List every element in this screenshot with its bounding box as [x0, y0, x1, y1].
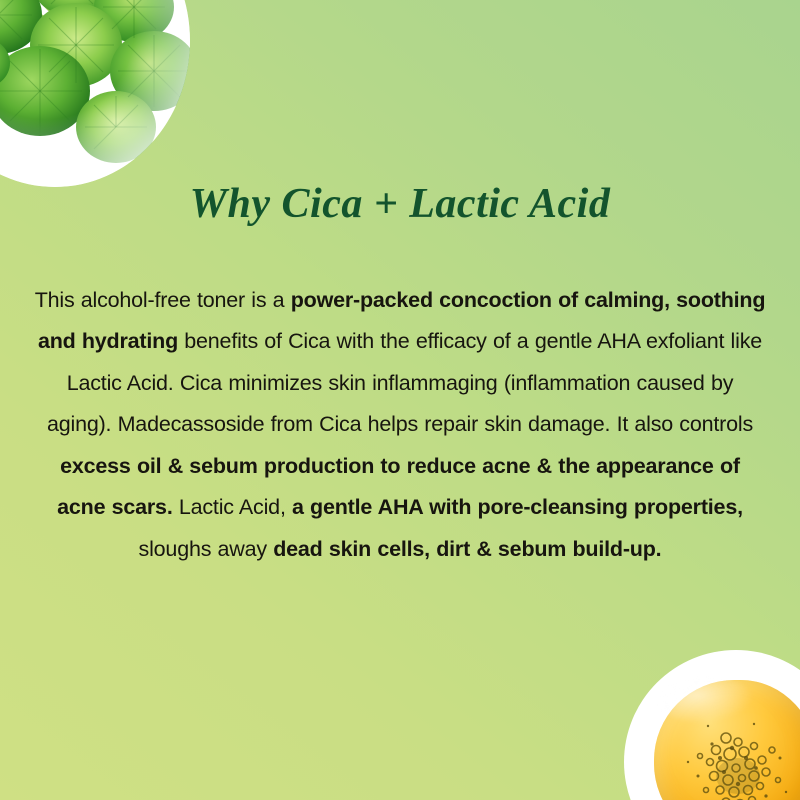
page-title: Why Cica + Lactic Acid: [0, 180, 800, 228]
body-run-regular: sloughs away: [139, 537, 274, 561]
body-paragraph: This alcohol-free toner is a power-packe…: [34, 280, 766, 571]
body-run-regular: This alcohol-free toner is a: [35, 288, 291, 312]
cica-leaves-image: [0, 0, 190, 187]
body-run-bold: a gentle AHA with pore-cleansing propert…: [292, 495, 743, 519]
body-run-regular: Lactic Acid,: [173, 495, 292, 519]
cica-leaves-badge: [0, 0, 190, 187]
droplet-highlight: [658, 676, 754, 724]
toner-droplet-badge: [624, 650, 800, 800]
cica-lactic-acid-poster: Why Cica + Lactic Acid This alcohol-free…: [0, 0, 800, 800]
body-run-bold: dead skin cells, dirt & sebum build-up.: [273, 537, 661, 561]
